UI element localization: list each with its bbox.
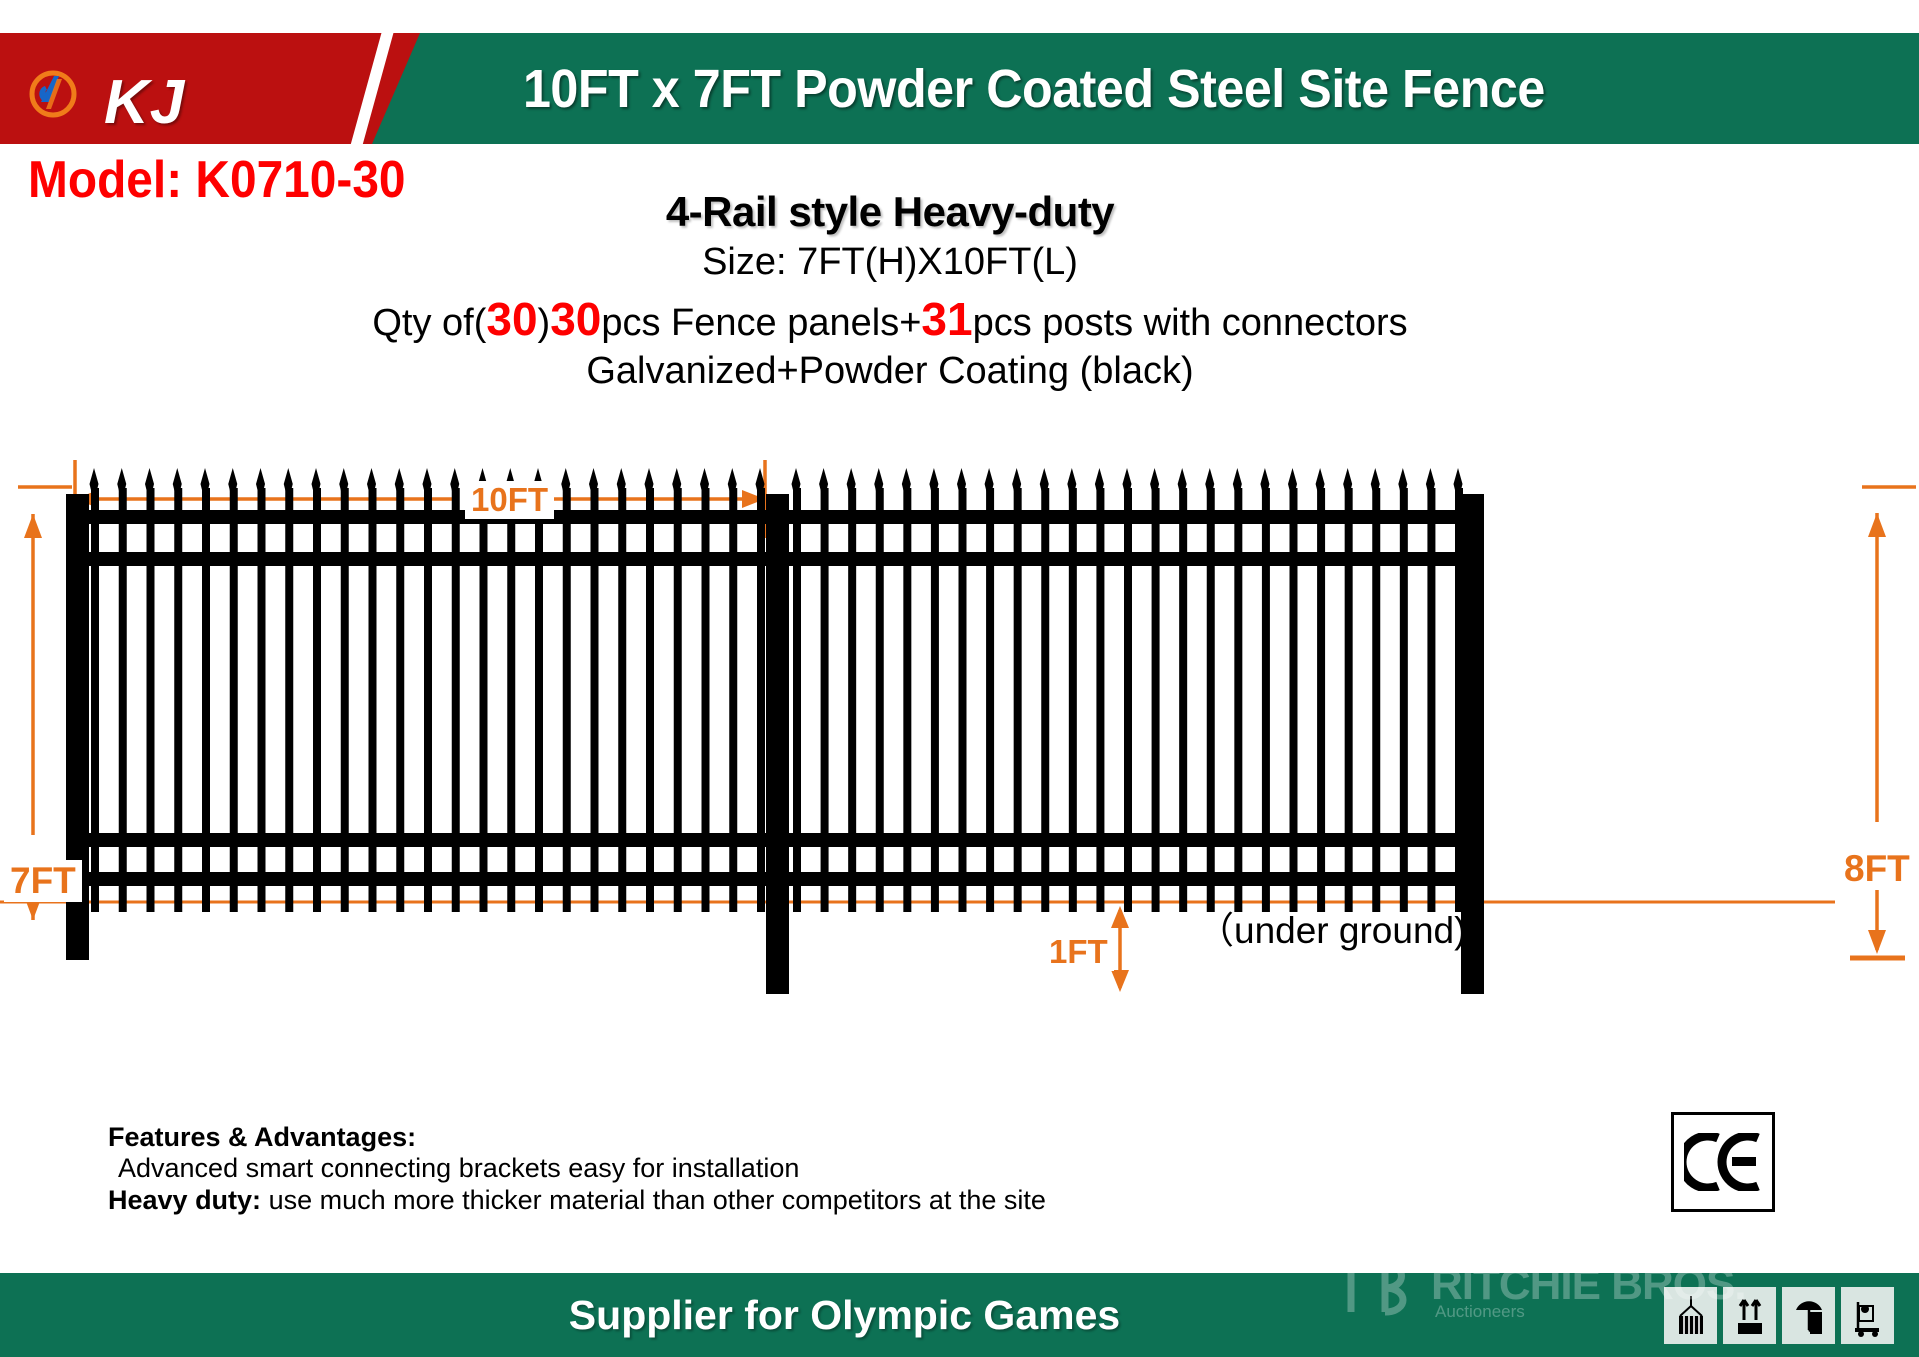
qty-close-paren: ) xyxy=(538,302,551,344)
picket-shaft xyxy=(1262,488,1270,846)
picket-shaft xyxy=(563,488,571,846)
picket-shaft xyxy=(674,488,682,846)
arrow-down-1ft xyxy=(1111,970,1129,992)
dimension-7ft xyxy=(18,487,72,920)
picket-shaft xyxy=(821,488,829,846)
features-line-1: Advanced smart connecting brackets easy … xyxy=(108,1153,1046,1184)
keep-dry-umbrella-icon xyxy=(1782,1287,1835,1344)
under-ground-label: （under ground) xyxy=(1197,900,1466,954)
product-spec-sheet: KJ 10FT x 7FT Powder Coated Steel Site F… xyxy=(0,0,1919,1357)
picket-shaft xyxy=(793,488,801,846)
arrow-up-8ft xyxy=(1868,513,1886,537)
features-line-2-label: Heavy duty: xyxy=(108,1185,261,1215)
picket-shaft xyxy=(1317,488,1325,846)
picket-shaft xyxy=(646,488,654,846)
dim-label-10ft: 10FT xyxy=(465,481,554,519)
picket-shaft xyxy=(1124,488,1132,846)
rail-top-2 xyxy=(88,552,768,566)
picket-shaft xyxy=(848,488,856,846)
footer-tagline: Supplier for Olympic Games xyxy=(0,1273,1919,1357)
qty-prefix: Qty of( xyxy=(372,302,486,344)
page-title: 10FT x 7FT Powder Coated Steel Site Fenc… xyxy=(67,33,1852,144)
spec-style: 4-Rail style Heavy-duty xyxy=(250,188,1530,236)
picket-shaft xyxy=(285,488,293,846)
picket-shaft xyxy=(174,488,182,846)
footer-bar: Supplier for Olympic Games xyxy=(0,1273,1919,1357)
picket-shaft xyxy=(396,488,404,846)
spec-coating: Galvanized+Powder Coating (black) xyxy=(250,350,1530,393)
picket-shaft xyxy=(91,488,99,846)
picket-shaft xyxy=(507,488,515,846)
qty-paren-count: 30 xyxy=(486,293,537,345)
fragile-crate-icon xyxy=(1664,1287,1717,1344)
picket-shaft xyxy=(480,488,488,846)
rail-bottom-2b xyxy=(788,872,1473,886)
forklift-icon xyxy=(1841,1287,1894,1344)
this-side-up-icon xyxy=(1723,1287,1776,1344)
features-line-2-text: use much more thicker material than othe… xyxy=(261,1185,1046,1215)
picket-shaft xyxy=(1069,488,1077,846)
features-title: Features & Advantages: xyxy=(108,1122,1046,1153)
picket-shaft xyxy=(1345,488,1353,846)
picket-shaft xyxy=(1152,488,1160,846)
rail-bottom-1b xyxy=(788,833,1473,847)
dim-label-1ft: 1FT xyxy=(1043,933,1114,971)
picket-shaft xyxy=(1014,488,1022,846)
picket-shaft xyxy=(729,488,737,846)
picket-shaft xyxy=(341,488,349,846)
arrow-up-7ft xyxy=(24,514,42,538)
picket-shaft xyxy=(230,488,238,846)
picket-shaft xyxy=(1207,488,1215,846)
picket-shaft xyxy=(119,488,127,846)
picket-shaft xyxy=(931,488,939,846)
post-center xyxy=(766,494,789,994)
rail-top-1b xyxy=(788,510,1473,524)
dim-label-7ft: 7FT xyxy=(4,860,82,902)
header-banner: KJ 10FT x 7FT Powder Coated Steel Site F… xyxy=(0,33,1919,144)
picket-shaft xyxy=(757,488,765,846)
rail-top-2b xyxy=(788,552,1473,566)
picket-shaft xyxy=(1427,488,1435,846)
picket-shaft xyxy=(1234,488,1242,846)
features-line-2: Heavy duty: use much more thicker materi… xyxy=(108,1185,1046,1216)
picket-shaft xyxy=(535,488,543,846)
spec-quantity: Qty of(30)30pcs Fence panels+31pcs posts… xyxy=(250,292,1530,346)
ce-glyph-icon xyxy=(1684,1133,1762,1191)
features-block: Features & Advantages: Advanced smart co… xyxy=(108,1122,1046,1216)
picket-shaft xyxy=(313,488,321,846)
picket-shaft xyxy=(452,488,460,846)
picket-shaft xyxy=(1041,488,1049,846)
picket-shaft xyxy=(1179,488,1187,846)
rail-bottom-1 xyxy=(88,833,768,847)
rail-bottom-2 xyxy=(88,872,768,886)
picket-shaft xyxy=(618,488,626,846)
qty-panels-count: 30 xyxy=(550,293,601,345)
spec-block: 4-Rail style Heavy-duty Size: 7FT(H)X10F… xyxy=(250,188,1530,393)
picket-shaft xyxy=(702,488,710,846)
picket-shaft xyxy=(876,488,884,846)
picket-shaft xyxy=(369,488,377,846)
picket-shaft xyxy=(147,488,155,846)
arrow-down-8ft xyxy=(1868,930,1886,954)
picket-shaft xyxy=(903,488,911,846)
picket-shaft xyxy=(1096,488,1104,846)
rail-top-1 xyxy=(88,510,768,524)
handling-icons xyxy=(1664,1287,1894,1344)
qty-panels-text: pcs Fence panels+ xyxy=(601,302,921,344)
picket-shaft xyxy=(424,488,432,846)
qty-posts-count: 31 xyxy=(921,293,972,345)
picket-shaft xyxy=(258,488,266,846)
picket-shaft xyxy=(591,488,599,846)
picket-shaft xyxy=(1400,488,1408,846)
picket-shaft xyxy=(202,488,210,846)
picket-shaft xyxy=(1290,488,1298,846)
picket-shaft xyxy=(959,488,967,846)
picket-shaft xyxy=(1372,488,1380,846)
picket-shaft xyxy=(986,488,994,846)
dim-label-8ft: 8FT xyxy=(1838,848,1916,890)
spec-size: Size: 7FT(H)X10FT(L) xyxy=(250,241,1530,284)
ce-mark xyxy=(1671,1112,1775,1212)
qty-posts-text: pcs posts with connectors xyxy=(973,302,1408,344)
